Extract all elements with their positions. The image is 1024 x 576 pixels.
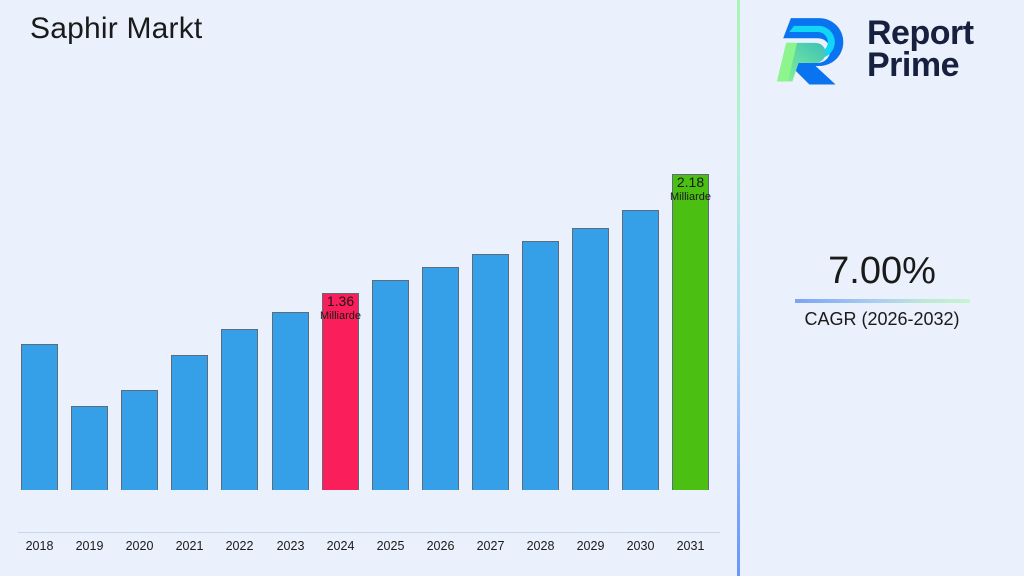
x-tick-2027: 2027 [466,539,516,553]
x-tick-2022: 2022 [215,539,265,553]
logo-line-2: Prime [867,49,974,81]
x-tick-2031: 2031 [666,539,716,553]
cagr-caption: CAGR (2026-2032) [740,309,1024,330]
x-tick-2030: 2030 [616,539,666,553]
bar-2021 [171,355,208,490]
cagr-divider-rule [795,299,970,303]
x-tick-2028: 2028 [516,539,566,553]
bar-2018 [21,344,58,490]
bar-2024 [322,293,359,490]
chart-infographic: Saphir Markt 1.36Milliarde2.18Milliarde … [0,0,1024,576]
cagr-block: 7.00% CAGR (2026-2032) [740,250,1024,330]
logo-line-1: Report [867,17,974,49]
bar-2022 [221,329,258,490]
x-tick-2024: 2024 [316,539,366,553]
report-prime-logo: Report Prime [775,12,974,86]
right-panel: Report Prime 7.00% CAGR (2026-2032) [740,0,1024,576]
bar-2031 [672,174,709,490]
bar-2025 [372,280,409,490]
x-tick-2021: 2021 [165,539,215,553]
x-tick-2019: 2019 [65,539,115,553]
bar-2023 [272,312,309,490]
x-axis-baseline [18,532,720,533]
x-tick-2029: 2029 [566,539,616,553]
cagr-value: 7.00% [740,250,1024,294]
logo-wordmark: Report Prime [867,17,974,82]
x-tick-2026: 2026 [416,539,466,553]
bar-2019 [71,406,108,490]
bar-2029 [572,228,609,490]
x-tick-2020: 2020 [115,539,165,553]
bar-2020 [121,390,158,490]
x-tick-2023: 2023 [266,539,316,553]
x-tick-2025: 2025 [366,539,416,553]
report-prime-logo-mark [775,12,853,86]
bar-2026 [422,267,459,490]
bar-2027 [472,254,509,490]
plot-area: 1.36Milliarde2.18Milliarde [0,0,737,533]
bar-2030 [622,210,659,490]
bar-chart: 1.36Milliarde2.18Milliarde 2018201920202… [0,0,737,576]
x-tick-2018: 2018 [15,539,65,553]
bar-2028 [522,241,559,490]
